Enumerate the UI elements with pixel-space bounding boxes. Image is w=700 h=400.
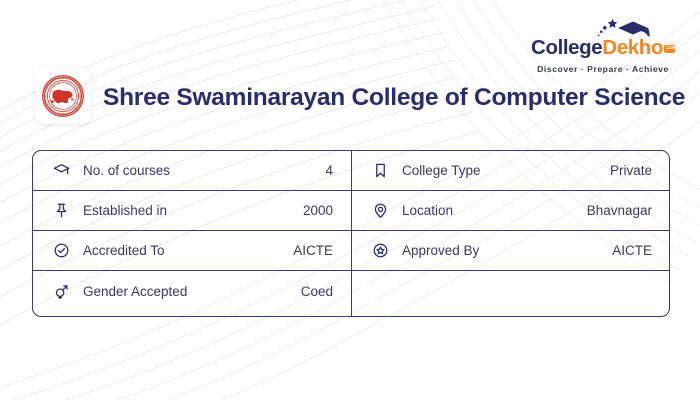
check-circle-icon: [53, 242, 83, 259]
table-row: Accredited To AICTE: [33, 231, 351, 271]
brand-dotcom-badge: .com: [664, 45, 675, 53]
row-label: No. of courses: [83, 163, 317, 178]
row-value: Bhavnagar: [579, 203, 652, 218]
table-row-empty: [352, 271, 670, 316]
info-table-left-column: No. of courses 4 Established in 2000: [33, 151, 352, 316]
award-star-icon: [372, 242, 402, 259]
brand-name-college: College: [531, 36, 602, 59]
info-table-right-column: College Type Private Location Bhavnagar: [352, 151, 670, 316]
row-label: Location: [402, 203, 579, 218]
college-info-table: No. of courses 4 Established in 2000: [32, 150, 670, 317]
row-value: 4: [317, 163, 333, 178]
row-value: Coed: [293, 284, 333, 299]
bookmark-icon: [372, 162, 402, 179]
page-header: CollegeDekho.com Discover · Prepare · Ac…: [0, 0, 700, 145]
table-row: Approved By AICTE: [352, 231, 670, 271]
collegedekho-logo[interactable]: CollegeDekho.com Discover · Prepare · Ac…: [528, 18, 678, 74]
row-label: Established in: [83, 203, 295, 218]
college-info-card: CollegeDekho.com Discover · Prepare · Ac…: [0, 0, 700, 400]
row-label: College Type: [402, 163, 602, 178]
table-row: College Type Private: [352, 151, 670, 191]
pin-icon: [53, 202, 83, 219]
row-value: AICTE: [604, 243, 652, 258]
table-row: Location Bhavnagar: [352, 191, 670, 231]
row-label: Accredited To: [83, 243, 285, 258]
row-value: AICTE: [285, 243, 333, 258]
table-row: Gender Accepted Coed: [33, 271, 351, 311]
college-crest-icon: [41, 74, 85, 118]
gender-icon: [53, 283, 83, 300]
row-value: 2000: [295, 203, 333, 218]
college-crest-card: [35, 68, 91, 124]
table-row: Established in 2000: [33, 191, 351, 231]
brand-wordmark: CollegeDekho.com: [528, 38, 678, 59]
page-title: Shree Swaminarayan College of Computer S…: [103, 82, 685, 114]
map-pin-icon: [372, 202, 402, 219]
row-label: Gender Accepted: [83, 284, 293, 299]
brand-name-dekho: Dekho: [602, 36, 663, 59]
table-row: No. of courses 4: [33, 151, 351, 191]
graduation-cap-icon: [53, 162, 83, 179]
row-value: Private: [602, 163, 652, 178]
brand-tagline: Discover · Prepare · Achieve: [528, 64, 678, 74]
row-label: Approved By: [402, 243, 604, 258]
